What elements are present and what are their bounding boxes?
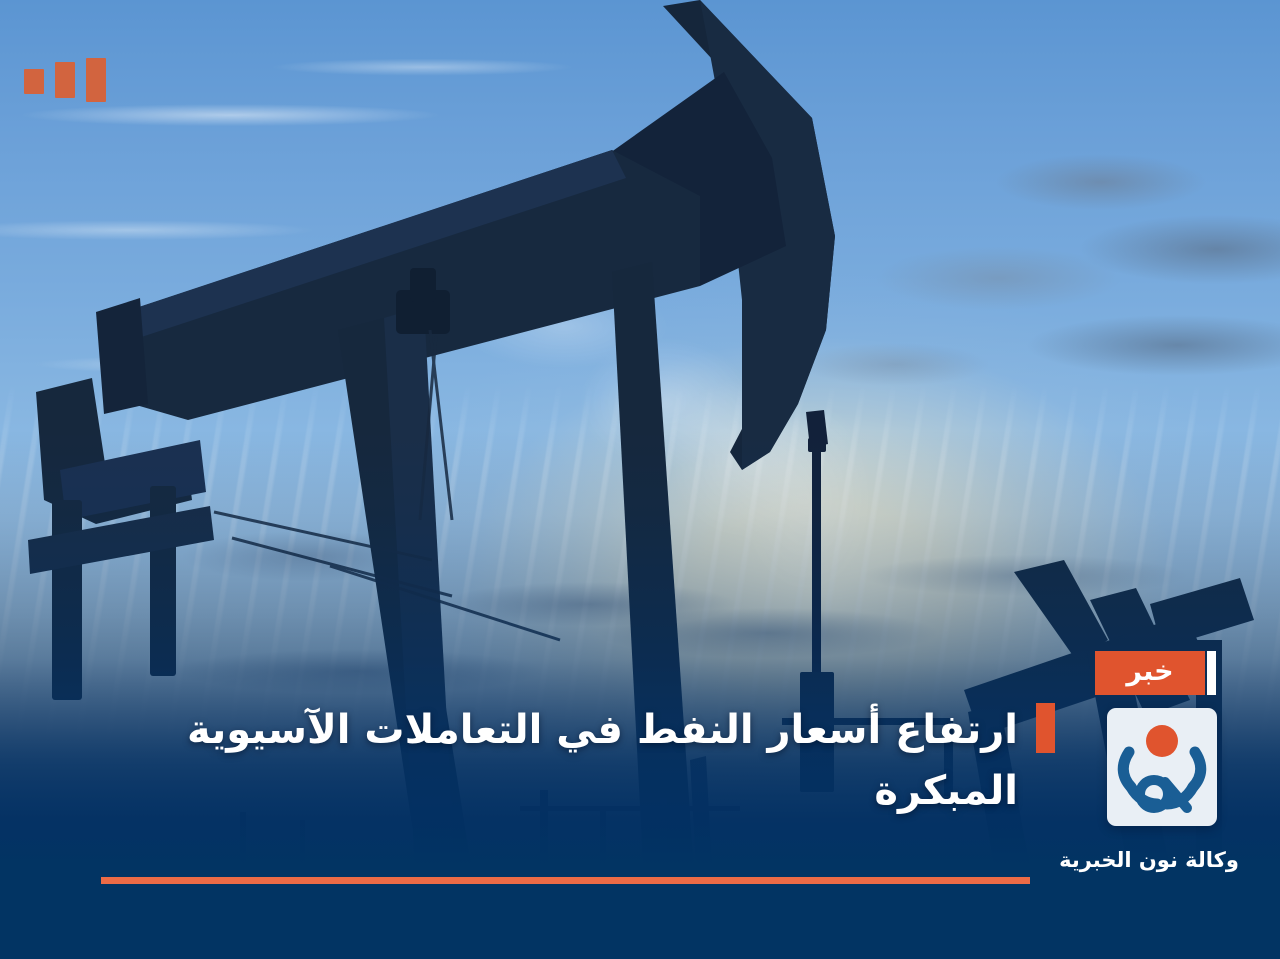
agency-name: وكالة نون الخبرية <box>1036 848 1262 872</box>
agency-logo <box>1107 708 1217 826</box>
logo-dot-icon <box>1146 725 1178 757</box>
headline-accent-bar <box>1036 703 1055 753</box>
brand-mark-icon <box>24 58 106 102</box>
brand-bar-3 <box>24 69 44 94</box>
badge-white-bar <box>1207 651 1216 695</box>
navy-overlay-solid <box>0 877 1280 959</box>
orange-divider-rule <box>101 877 1030 884</box>
headline: ارتفاع أسعار النفط في التعاملات الآسيوية… <box>70 700 1018 822</box>
brand-bar-2 <box>55 62 75 98</box>
brand-bar-1 <box>86 58 106 102</box>
news-card: ارتفاع أسعار النفط في التعاملات الآسيوية… <box>0 0 1280 959</box>
noon-logo-icon <box>1107 708 1217 826</box>
news-badge: خبر <box>1095 651 1205 695</box>
